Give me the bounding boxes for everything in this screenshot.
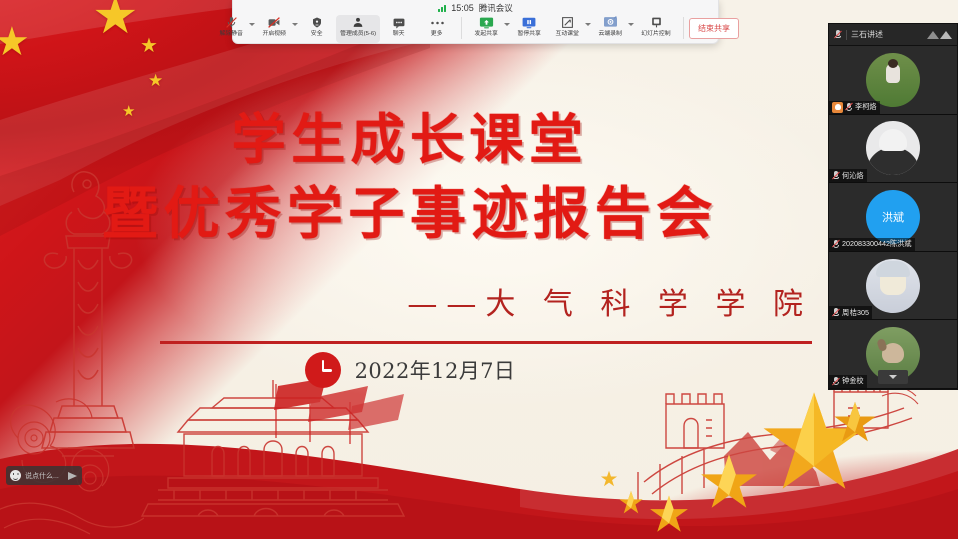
meeting-status-bar: 15:05 腾讯会议 xyxy=(438,0,513,15)
avatar-initials: 洪斌 xyxy=(866,190,920,244)
header-divider xyxy=(846,30,847,40)
slide-title-line1: 学生成长课堂 xyxy=(0,104,820,174)
toolbar-manage-participants-label: 管理成员(5-6) xyxy=(340,29,376,38)
toolbar-pause-share-button[interactable]: 暂停共享 xyxy=(510,15,548,43)
avatar: 洪斌 xyxy=(866,190,920,244)
signal-strength-icon xyxy=(438,4,446,12)
chat-input-bar[interactable]: 说点什么... xyxy=(6,466,82,485)
microphone-muted-icon xyxy=(834,30,842,39)
avatar xyxy=(866,121,920,175)
slide-control-icon xyxy=(650,16,663,30)
toolbar-slide-control-label: 幻灯片控制 xyxy=(641,29,670,38)
toolbar-more-label: 更多 xyxy=(431,29,443,38)
participant-name: 周 桔305 xyxy=(842,308,869,318)
toolbar-unmute-button[interactable]: 解除静音 xyxy=(212,15,250,43)
gold-star-small-1 xyxy=(648,494,690,536)
toolbar-divider-2 xyxy=(683,17,684,39)
participants-panel-header: 三石讲述 xyxy=(829,24,957,46)
interactive-class-icon xyxy=(561,16,574,30)
toolbar-security-label: 安全 xyxy=(311,29,323,38)
flag-star-small-4: ★ xyxy=(0,22,30,62)
share-screen-icon xyxy=(479,16,494,30)
gold-star-extra-right xyxy=(832,400,878,446)
toolbar-security-button[interactable]: 安全 xyxy=(298,15,336,43)
participants-icon xyxy=(351,16,365,30)
participant-tile[interactable]: 洪斌 202083300442陈洪斌 xyxy=(829,183,957,252)
participant-tile[interactable]: 李柯烙 xyxy=(829,46,957,115)
participant-name-bar: 周 桔305 xyxy=(829,306,872,319)
microphone-muted-icon xyxy=(845,103,853,112)
participant-name: 202083300442陈洪斌 xyxy=(842,239,912,249)
toolbar-unmute-label: 解除静音 xyxy=(219,29,243,38)
toolbar-divider-1 xyxy=(461,17,462,39)
microphone-muted-icon xyxy=(832,171,840,180)
cloud-record-icon xyxy=(603,16,618,30)
toolbar-manage-participants-button[interactable]: 管理成员(5-6) xyxy=(336,15,380,43)
participant-tile[interactable]: 周 桔305 xyxy=(829,252,957,321)
host-badge-icon xyxy=(832,102,843,113)
toolbar-interactive-class-label: 互动课堂 xyxy=(555,29,579,38)
participant-name-bar: 李柯烙 xyxy=(829,101,880,114)
toolbar-pause-share-label: 暂停共享 xyxy=(517,29,541,38)
camera-muted-icon xyxy=(267,16,281,30)
participant-tile[interactable]: 何沁烙 xyxy=(829,115,957,184)
microphone-muted-icon xyxy=(832,377,840,386)
avatar xyxy=(866,53,920,107)
flag-star-large: ★ xyxy=(92,0,139,42)
shared-slide: ★ ★ ★ ★ ★ xyxy=(0,0,958,539)
meeting-toolbar: 15:05 腾讯会议 解除静音 xyxy=(232,0,719,44)
avatar xyxy=(866,259,920,313)
flag-star-small-2: ★ xyxy=(148,72,163,89)
toolbar-start-video-label: 开启视频 xyxy=(262,29,286,38)
toolbar-cloud-record-button[interactable]: 云端录制 xyxy=(591,15,629,43)
participant-tile[interactable]: 钟金校 xyxy=(829,320,957,389)
slide-date-text: 2022年12月7日 xyxy=(355,355,516,385)
chat-input-placeholder[interactable]: 说点什么... xyxy=(25,471,64,481)
participant-name-bar: 202083300442陈洪斌 xyxy=(829,238,915,251)
send-icon[interactable] xyxy=(68,471,78,481)
toolbar-more-button[interactable]: 更多 xyxy=(418,15,456,43)
shield-icon xyxy=(311,16,323,30)
slide-divider-rule xyxy=(160,341,812,344)
participants-panel: 三石讲述 李柯烙 何沁烙 洪斌 2020 xyxy=(828,23,958,390)
microphone-muted-icon xyxy=(832,240,840,249)
gold-star-small-2 xyxy=(618,490,644,516)
gold-star-small-3 xyxy=(600,470,618,488)
clock-icon xyxy=(305,352,341,388)
participant-name: 钟金校 xyxy=(842,376,864,386)
meeting-app-name: 腾讯会议 xyxy=(479,2,513,14)
participant-name-bar: 何沁烙 xyxy=(829,169,867,182)
active-speaker-name: 三石讲述 xyxy=(851,29,883,40)
microphone-muted-icon xyxy=(832,308,840,317)
slide-subtitle: ——大 气 科 学 学 院 xyxy=(0,279,812,323)
participant-name: 李柯烙 xyxy=(855,102,877,112)
end-share-button[interactable]: 结束共享 xyxy=(689,18,739,39)
toolbar-interactive-class-button[interactable]: 互动课堂 xyxy=(548,15,586,43)
toolbar-chat-button[interactable]: 聊天 xyxy=(380,15,418,43)
participant-name: 何沁烙 xyxy=(842,171,864,181)
meeting-time: 15:05 xyxy=(451,3,474,13)
toolbar-chat-label: 聊天 xyxy=(393,29,405,38)
toolbar-start-share-label: 发起共享 xyxy=(474,29,498,38)
toolbar-cloud-record-label: 云端录制 xyxy=(598,29,622,38)
slide-title-line2: 暨优秀学子事迹报告会 xyxy=(0,176,820,252)
meeting-toolbar-buttons: 解除静音 开启视频 安全 xyxy=(206,15,745,43)
gold-star-medium xyxy=(698,452,760,514)
slide-title-block: 学生成长课堂 暨优秀学子事迹报告会 xyxy=(0,104,820,252)
chevron-down-icon[interactable] xyxy=(878,370,908,384)
tencent-meeting-logo-icon xyxy=(927,31,952,39)
more-dots-icon xyxy=(430,16,445,30)
flag-star-small-1: ★ xyxy=(140,36,158,56)
pause-share-icon xyxy=(522,16,536,30)
toolbar-start-share-button[interactable]: 发起共享 xyxy=(467,15,505,43)
toolbar-slide-control-button[interactable]: 幻灯片控制 xyxy=(634,15,678,43)
participant-name-bar: 钟金校 xyxy=(829,375,867,388)
slide-date-block: 2022年12月7日 xyxy=(0,352,820,388)
chat-bubble-icon xyxy=(392,16,406,30)
toolbar-start-video-button[interactable]: 开启视频 xyxy=(255,15,293,43)
emoji-icon[interactable] xyxy=(10,470,21,481)
microphone-muted-icon xyxy=(225,16,238,30)
